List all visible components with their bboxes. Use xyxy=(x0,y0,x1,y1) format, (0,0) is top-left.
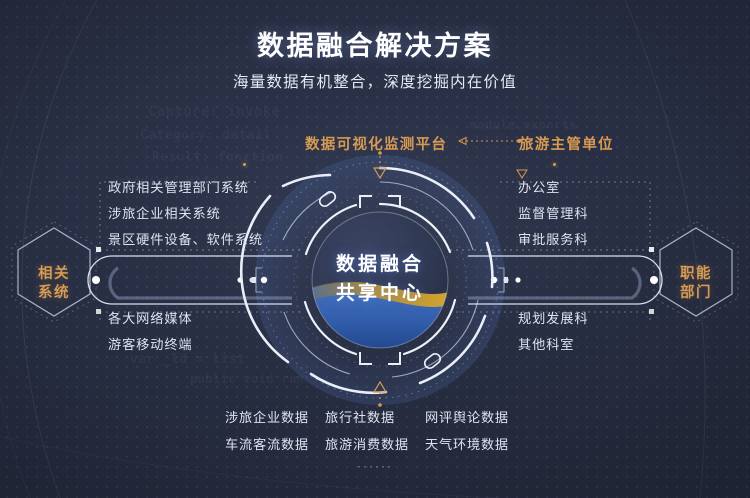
bottom-data-sources: 涉旅企业数据 旅行社数据 网评舆论数据 车流客流数据 旅游消费数据 天气环境数据 xyxy=(225,404,525,458)
hexagon-left-line2: 系统 xyxy=(38,284,70,303)
table-row: 涉旅企业数据 旅行社数据 网评舆论数据 xyxy=(225,404,525,431)
data-cell[interactable]: 涉旅企业数据 xyxy=(225,404,325,431)
label-visualization-platform[interactable]: 数据可视化监测平台 xyxy=(305,133,447,154)
left-sources-bottom-list: 各大网络媒体 游客移动终端 xyxy=(108,306,193,358)
list-item[interactable]: 涉旅企业相关系统 xyxy=(108,201,263,227)
list-item[interactable]: 政府相关管理部门系统 xyxy=(108,175,263,201)
hexagon-related-systems[interactable]: 相关 系统 xyxy=(8,228,100,340)
data-cell[interactable]: 旅行社数据 xyxy=(325,404,425,431)
hexagon-right-line2: 部门 xyxy=(680,284,712,303)
table-row: 车流客流数据 旅游消费数据 天气环境数据 xyxy=(225,431,525,458)
hexagon-functional-depts[interactable]: 职能 部门 xyxy=(650,228,742,340)
data-more-ellipsis: ······ xyxy=(0,459,750,473)
page-subtitle: 海量数据有机整合，深度挖掘内在价值 xyxy=(0,70,750,92)
code-line: public void run xyxy=(190,372,304,386)
page-title: 数据融合解决方案 xyxy=(0,24,750,63)
code-line: Capture: invoke xyxy=(148,104,280,120)
right-departments-bottom-list: 规划发展科 其他科室 xyxy=(518,306,588,358)
hexagon-left-line1: 相关 xyxy=(38,265,70,284)
ring-bracket-ticks xyxy=(360,196,400,364)
infographic-canvas: Capture: invoke Category: detail Result:… xyxy=(0,0,750,498)
code-line: Result: function xyxy=(152,150,284,165)
inner-dashed-ring xyxy=(294,194,466,366)
right-data-pipe xyxy=(450,247,662,314)
list-item[interactable]: 游客移动终端 xyxy=(108,332,193,358)
connector-dot xyxy=(553,163,556,166)
sphere-liquid xyxy=(300,283,452,360)
list-item[interactable]: 各大网络媒体 xyxy=(108,306,193,332)
list-item[interactable]: 其他科室 xyxy=(518,332,588,358)
data-fusion-sphere xyxy=(300,212,452,360)
core-hub-label: 数据融合 共享中心 xyxy=(302,250,458,308)
triangle-down-icon xyxy=(374,151,386,178)
data-cell[interactable]: 天气环境数据 xyxy=(425,431,525,458)
label-tourism-authority[interactable]: 旅游主管单位 xyxy=(519,133,614,154)
arrow-left-icon xyxy=(459,138,521,145)
mid-ring-segments xyxy=(283,182,478,377)
left-sources-top-list: 政府相关管理部门系统 涉旅企业相关系统 景区硬件设备、软件系统 xyxy=(108,175,263,253)
list-item[interactable]: 规划发展科 xyxy=(518,306,588,332)
ring-side-connectors xyxy=(252,268,508,292)
outer-dashed-ring xyxy=(262,162,498,398)
sphere-wave xyxy=(300,282,452,307)
core-line2: 共享中心 xyxy=(302,279,458,308)
hexagon-right-line1: 职能 xyxy=(680,265,712,284)
list-item[interactable]: 办公室 xyxy=(518,175,588,201)
code-line: module.exports xyxy=(470,118,577,132)
connector-dot xyxy=(243,163,246,166)
core-line1: 数据融合 xyxy=(302,250,458,279)
right-departments-top-list: 办公室 监督管理科 审批服务科 xyxy=(518,175,588,253)
data-cell[interactable]: 网评舆论数据 xyxy=(425,404,525,431)
ring-node-se xyxy=(423,352,443,370)
list-item[interactable]: 景区硬件设备、软件系统 xyxy=(108,227,263,253)
list-item[interactable]: 监督管理科 xyxy=(518,201,588,227)
sphere-ring xyxy=(305,204,455,354)
code-line: Category: detail xyxy=(140,128,272,143)
list-item[interactable]: 审批服务科 xyxy=(518,227,588,253)
ring-node-nw xyxy=(318,190,338,208)
outer-arc-segments xyxy=(241,168,492,393)
data-cell[interactable]: 车流客流数据 xyxy=(225,431,325,458)
data-cell[interactable]: 旅游消费数据 xyxy=(325,431,425,458)
